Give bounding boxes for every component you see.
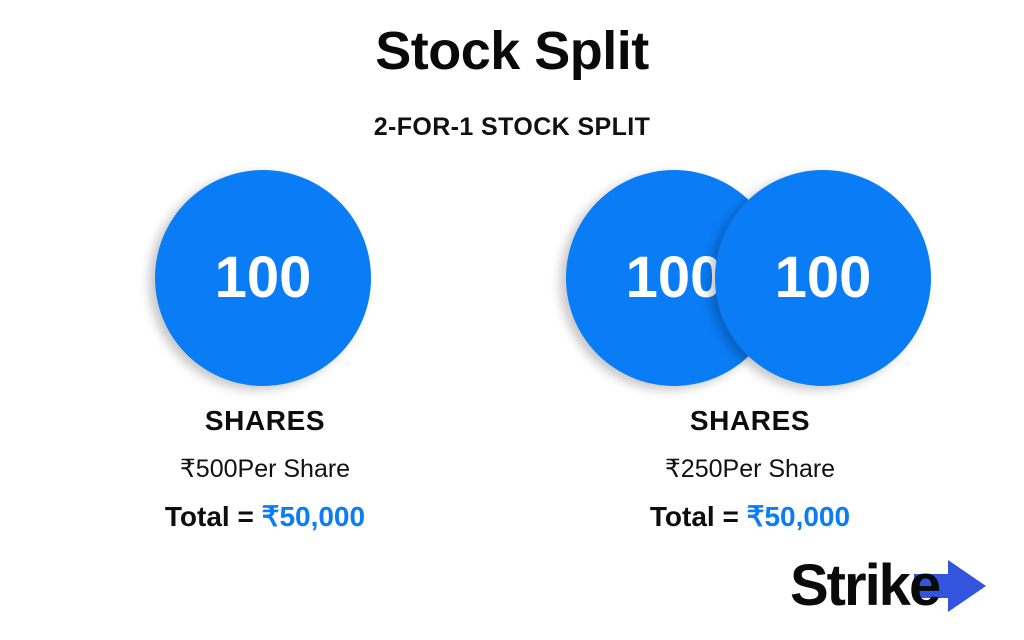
- price-per-share: ₹500Per Share: [115, 454, 415, 484]
- caption-area: SHARES ₹500Per Share Total = ₹50,000 SHA…: [0, 404, 1024, 564]
- shares-label: SHARES: [600, 404, 900, 438]
- total-line: Total = ₹50,000: [115, 500, 415, 534]
- caption-column-before: SHARES ₹500Per Share Total = ₹50,000: [115, 404, 415, 533]
- strike-logo: Strike: [790, 553, 1005, 619]
- share-count-value: 100: [626, 249, 723, 307]
- page-subtitle: 2-FOR-1 STOCK SPLIT: [0, 112, 1024, 142]
- circle-row-after: 100 100: [566, 168, 936, 388]
- share-circle-before-1: 100: [155, 170, 371, 386]
- total-line: Total = ₹50,000: [600, 500, 900, 534]
- share-count-value: 100: [775, 249, 872, 307]
- shares-label: SHARES: [115, 404, 415, 438]
- caption-column-after: SHARES ₹250Per Share Total = ₹50,000: [600, 404, 900, 533]
- page-title: Stock Split: [0, 22, 1024, 81]
- after-split-circle-group: 100 100: [566, 168, 936, 388]
- total-prefix: Total =: [165, 501, 262, 532]
- share-circle-after-2: 100: [715, 170, 931, 386]
- infographic-canvas: Stock Split 2-FOR-1 STOCK SPLIT 100 100 …: [0, 0, 1024, 640]
- strike-wordmark-text: Strike: [790, 553, 940, 618]
- strike-wordmark-icon: Strike: [790, 553, 1005, 619]
- share-count-value: 100: [215, 249, 312, 307]
- price-per-share: ₹250Per Share: [600, 454, 900, 484]
- total-amount: ₹50,000: [262, 501, 365, 532]
- total-prefix: Total =: [650, 501, 747, 532]
- total-amount: ₹50,000: [747, 501, 850, 532]
- before-split-circle-group: 100: [155, 168, 375, 388]
- circle-row-before: 100: [155, 168, 375, 388]
